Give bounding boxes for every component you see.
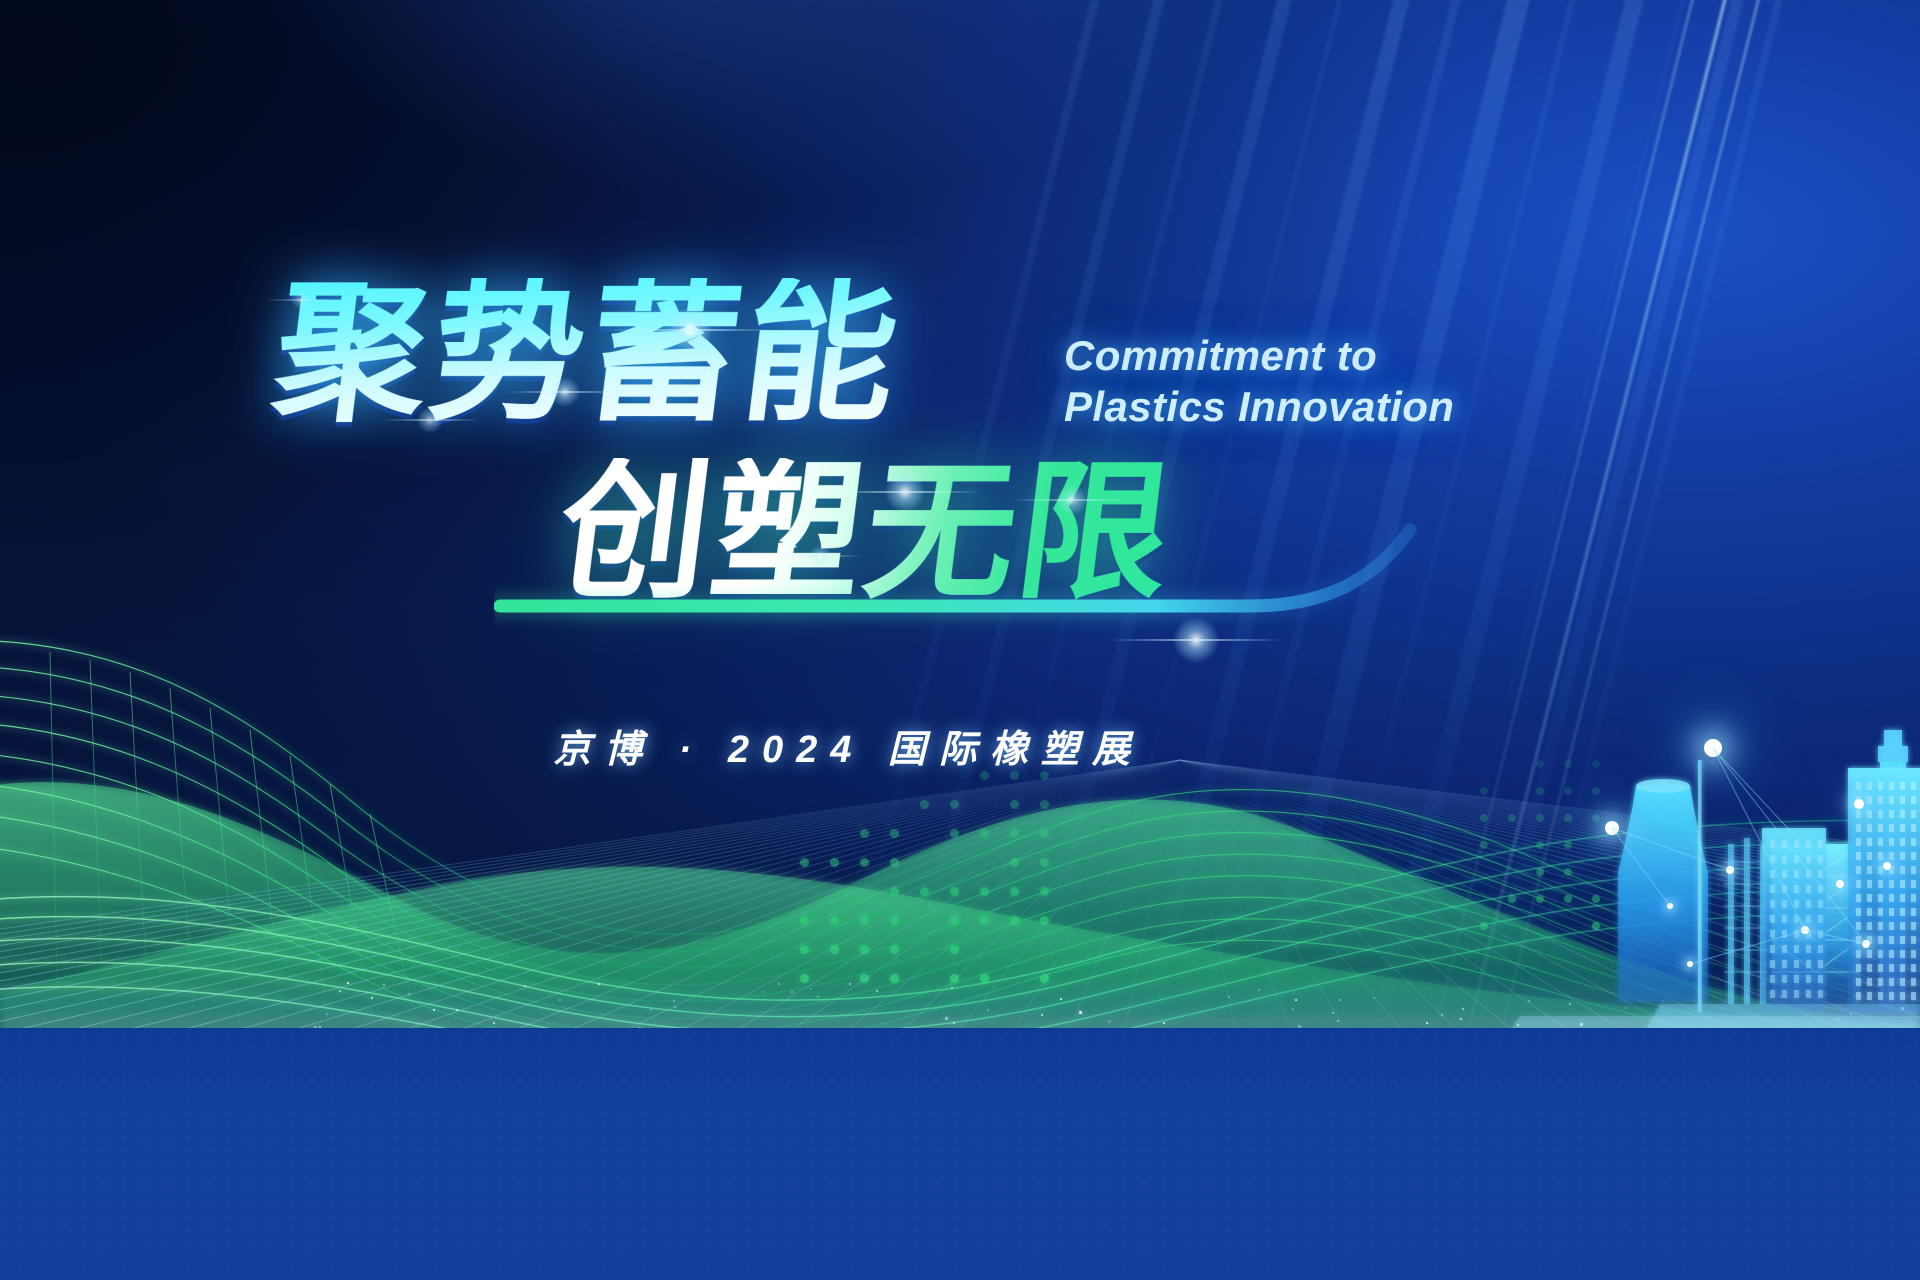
node-light [1605,821,1619,835]
node-light [1726,866,1734,874]
headline-line1-row: 聚势蓄能 Commitment to Plastics Innovation [258,278,1438,464]
english-subtitle-line2: Plastics Innovation [1064,381,1454,432]
banner-canvas: 聚势蓄能 Commitment to Plastics Innovation 创… [0,0,1920,1280]
node-light [1801,926,1809,934]
node-light [1854,799,1864,809]
english-subtitle-line1: Commitment to [1064,330,1454,381]
event-tagline: 京博 · 2024 国际橡塑展 [258,718,1438,773]
node-light [1667,903,1673,909]
node-light [1862,940,1870,948]
english-subtitle: Commitment to Plastics Innovation [1064,330,1454,432]
node-light [1704,739,1722,757]
lens-flare-streak [1109,639,1284,641]
headline-line1: 聚势蓄能 [267,278,910,430]
bottom-color-band [0,1028,1920,1280]
node-light [1836,880,1844,888]
headline-block: 聚势蓄能 Commitment to Plastics Innovation 创… [258,278,1438,634]
accent-swoosh [494,510,1454,630]
node-light [1687,961,1693,967]
node-light [1883,862,1891,870]
